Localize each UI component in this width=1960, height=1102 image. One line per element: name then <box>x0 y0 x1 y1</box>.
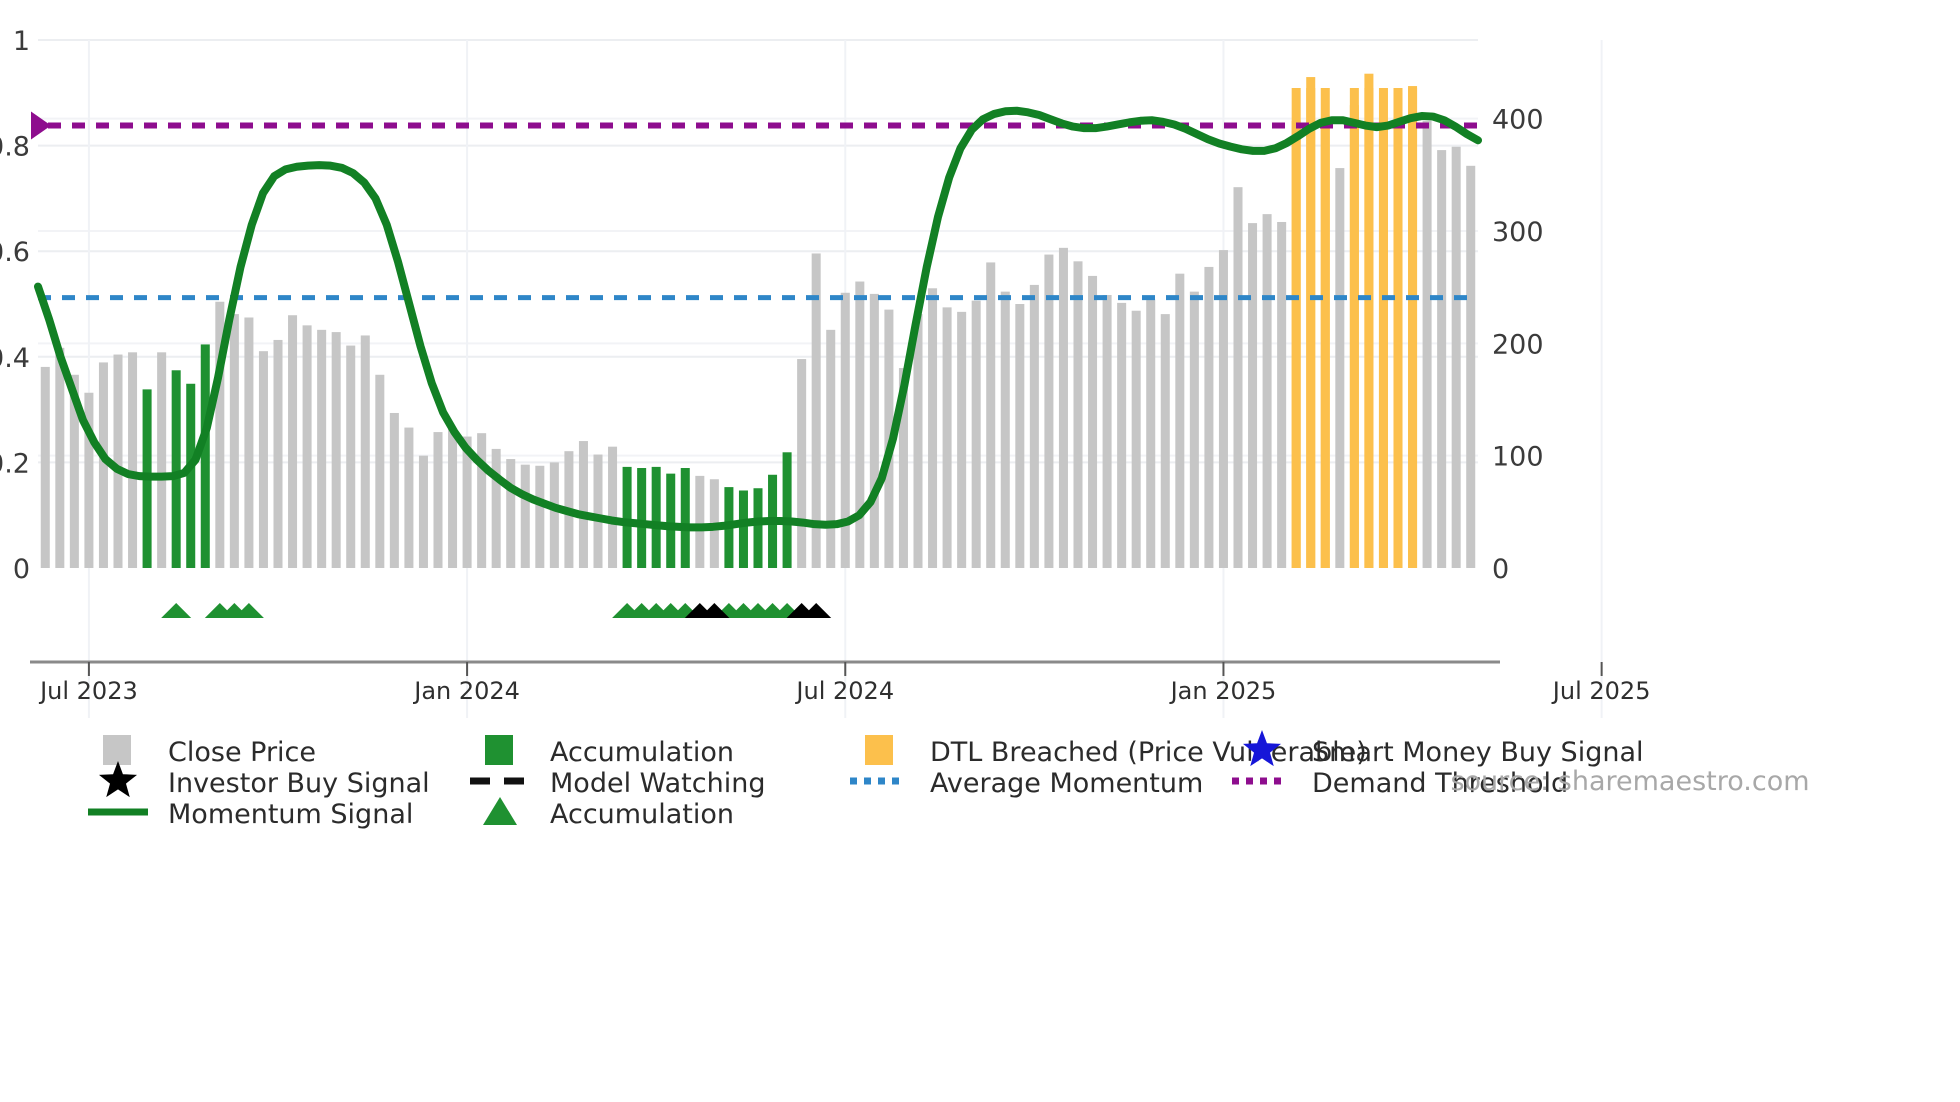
chart-container: 00.20.40.60.810100200300400Jul 2023Jan 2… <box>0 0 1960 1102</box>
price-bar <box>361 335 370 568</box>
accumulation-marker <box>161 603 191 618</box>
dtl-breached-bar <box>1292 121 1301 568</box>
y-axis-left-tick: 0.2 <box>0 448 30 479</box>
y-axis-right-tick: 100 <box>1492 442 1544 473</box>
price-bar <box>1132 311 1141 568</box>
price-bar <box>1146 300 1155 568</box>
legend-label: Momentum Signal <box>168 799 413 830</box>
price-bar <box>157 352 166 568</box>
legend-label: Investor Buy Signal <box>168 768 430 799</box>
price-bar <box>579 441 588 568</box>
y-axis-left-tick: 0.8 <box>0 132 30 163</box>
price-bar <box>1030 285 1039 568</box>
price-bar <box>55 348 64 568</box>
price-bar <box>550 462 559 568</box>
legend-label: Close Price <box>168 737 316 768</box>
price-bar <box>1233 187 1242 568</box>
dtl-breached-bar <box>1379 120 1388 568</box>
price-bar <box>390 413 399 568</box>
legend-item: Average Momentum <box>850 768 1203 799</box>
price-bar <box>637 468 646 568</box>
price-bar <box>1437 150 1446 568</box>
price-bar <box>928 288 937 568</box>
price-bar <box>855 282 864 568</box>
legend-label: Average Momentum <box>930 768 1203 799</box>
momentum-signal-path <box>38 111 1478 528</box>
price-bar <box>477 433 486 568</box>
price-bar <box>753 488 762 568</box>
price-bar <box>1015 304 1024 568</box>
price-bar <box>244 317 253 568</box>
price-bar <box>404 428 413 568</box>
y-axis-right-tick: 0 <box>1492 554 1509 585</box>
dtl-breached-bar <box>1321 128 1330 568</box>
price-bar <box>521 465 530 568</box>
price-bar <box>1204 267 1213 568</box>
price-bar <box>797 359 806 568</box>
price-bar <box>666 474 675 568</box>
legend-item: DTL Breached (Price Vulnerable) <box>865 735 1367 768</box>
price-bar <box>1248 223 1257 568</box>
price-bar <box>1044 255 1053 568</box>
price-bar <box>826 330 835 568</box>
threshold-lines <box>31 112 1478 298</box>
price-bar <box>317 330 326 568</box>
legend-item: Accumulation <box>485 735 734 768</box>
x-axis-tick-label: Jan 2025 <box>1169 677 1277 705</box>
price-bar <box>739 490 748 568</box>
price-bar <box>172 370 181 568</box>
price-bar <box>1088 276 1097 568</box>
legend-item: Momentum Signal <box>88 799 413 830</box>
price-bar <box>448 429 457 568</box>
legend-item: Accumulation <box>483 797 734 830</box>
signal-markers <box>161 603 831 618</box>
legend-label: DTL Breached (Price Vulnerable) <box>930 737 1367 768</box>
y-axis-right-tick: 400 <box>1492 105 1544 136</box>
price-bar <box>1190 292 1199 568</box>
price-bar <box>230 314 239 568</box>
legend-square-icon <box>865 735 893 765</box>
legend-label: Smart Money Buy Signal <box>1312 737 1644 768</box>
dtl-breached-bar <box>1364 74 1373 568</box>
price-bar <box>608 447 617 568</box>
price-bar <box>695 476 704 568</box>
price-bar <box>1175 274 1184 568</box>
demand-threshold-start-marker <box>31 112 51 140</box>
price-bar <box>273 340 282 568</box>
price-bar <box>1466 166 1475 568</box>
price-bar <box>535 466 544 568</box>
price-bar <box>783 452 792 568</box>
y-axis-left-tick: 0.4 <box>0 343 30 374</box>
price-bar <box>419 456 428 568</box>
legend-label: Accumulation <box>550 737 734 768</box>
price-bar <box>375 375 384 568</box>
price-bar <box>870 294 879 568</box>
legend-square-icon <box>103 735 131 765</box>
dtl-breached-bar <box>1393 93 1402 568</box>
price-bar <box>346 346 355 568</box>
price-bar <box>652 467 661 568</box>
price-bar <box>288 315 297 568</box>
y-axis-right-tick: 300 <box>1492 217 1544 248</box>
price-bar <box>593 455 602 568</box>
price-bar <box>41 367 50 568</box>
price-bar <box>113 355 122 568</box>
price-bar <box>1001 292 1010 568</box>
dtl-breached-bar <box>1306 77 1315 568</box>
price-bar <box>623 467 632 568</box>
x-axis-tick-label: Jan 2024 <box>412 677 520 705</box>
legend-item: Close Price <box>103 735 316 768</box>
x-axis-tick-label: Jul 2023 <box>38 677 138 705</box>
price-bar <box>128 352 137 568</box>
price-bar <box>1335 168 1344 568</box>
price-bar <box>492 449 501 568</box>
price-bar <box>986 262 995 568</box>
legend-square-icon <box>485 735 513 765</box>
dtl-breached-bar <box>1350 105 1359 568</box>
dtl-breached-bar <box>1408 86 1417 568</box>
price-bar <box>1103 295 1112 568</box>
price-bar <box>1263 214 1272 568</box>
legend-star-icon <box>99 761 137 797</box>
price-bar <box>1117 303 1126 568</box>
price-bar <box>957 312 966 568</box>
price-bar <box>1452 147 1461 568</box>
y-axis-left-tick: 0 <box>13 554 30 585</box>
price-bar <box>681 468 690 568</box>
source-attribution: source: sharemaestro.com <box>1450 766 1809 797</box>
price-bar <box>506 459 515 568</box>
y-axis-right-tick: 200 <box>1492 329 1544 360</box>
price-bar <box>1073 261 1082 568</box>
y-axis-left-tick: 0.6 <box>0 237 30 268</box>
price-bar <box>1423 121 1432 568</box>
price-bar <box>201 344 210 568</box>
price-bar <box>259 351 268 568</box>
price-bar <box>913 314 922 568</box>
momentum-signal-line <box>38 111 1478 528</box>
y-axis-left-tick: 1 <box>13 26 30 57</box>
price-bar <box>433 432 442 568</box>
x-axis-tick-label: Jul 2024 <box>794 677 894 705</box>
legend-item: Model Watching <box>470 768 765 799</box>
legend-label: Accumulation <box>550 799 734 830</box>
price-bar <box>332 332 341 568</box>
x-axis-tick-label: Jul 2025 <box>1551 677 1651 705</box>
price-bar <box>186 384 195 568</box>
financial-chart: 00.20.40.60.810100200300400Jul 2023Jan 2… <box>0 0 1960 1102</box>
price-bar <box>972 301 981 568</box>
price-bar <box>1277 222 1286 568</box>
chart-legend: Close PriceAccumulationDTL Breached (Pri… <box>88 730 1644 830</box>
price-bar <box>303 325 312 568</box>
price-bar <box>1059 248 1068 568</box>
price-bar <box>1161 314 1170 568</box>
legend-label: Model Watching <box>550 768 765 799</box>
price-bar <box>943 307 952 568</box>
legend-triangle-icon <box>483 797 517 825</box>
